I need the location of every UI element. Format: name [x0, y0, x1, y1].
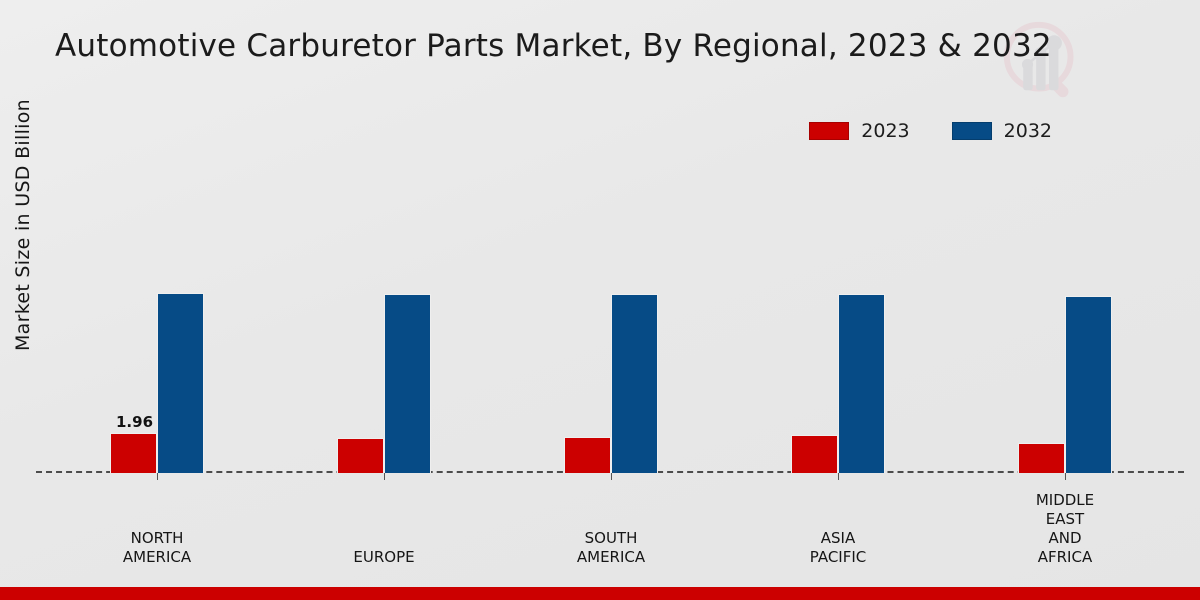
plot-area: 1.96 NORTH AMERICA EUROPE	[36, 160, 1184, 473]
bar-2032-middle-east-and-africa[interactable]	[1065, 296, 1112, 473]
bar-group-south-america: SOUTH AMERICA	[564, 160, 658, 473]
x-tick-asia-pacific	[838, 473, 839, 480]
bar-group-asia-pacific: ASIA PACIFIC	[791, 160, 885, 473]
x-label-north-america: NORTH AMERICA	[57, 529, 257, 567]
legend-item-2023[interactable]: 2023	[809, 120, 909, 142]
bar-value-label-north-america: 1.96	[116, 413, 153, 431]
legend-item-2032[interactable]: 2032	[952, 120, 1052, 142]
x-label-line: NORTH	[57, 529, 257, 548]
chart-legend: 2023 2032	[809, 120, 1052, 142]
x-label-line: AMERICA	[511, 548, 711, 567]
bar-2023-north-america[interactable]	[110, 433, 157, 473]
y-axis-label: Market Size in USD Billion	[12, 60, 34, 390]
bar-2023-south-america[interactable]	[564, 437, 611, 473]
bar-group-middle-east-and-africa: MIDDLE EAST AND AFRICA	[1018, 160, 1112, 473]
x-tick-middle-east-and-africa	[1065, 473, 1066, 480]
bar-2032-north-america[interactable]	[157, 293, 204, 473]
x-label-asia-pacific: ASIA PACIFIC	[738, 529, 938, 567]
bars-middle-east-and-africa	[1018, 160, 1112, 473]
x-label-line: AMERICA	[57, 548, 257, 567]
x-label-line: ASIA	[738, 529, 938, 548]
bar-group-europe: EUROPE	[337, 160, 431, 473]
x-tick-north-america	[157, 473, 158, 480]
footer-accent-bar	[0, 587, 1200, 600]
x-label-south-america: SOUTH AMERICA	[511, 529, 711, 567]
legend-swatch-2023	[809, 122, 849, 140]
x-label-line: EUROPE	[284, 548, 484, 567]
x-label-line: AND	[965, 529, 1165, 548]
bar-2023-europe[interactable]	[337, 438, 384, 473]
bars-europe	[337, 160, 431, 473]
x-label-line: SOUTH	[511, 529, 711, 548]
x-tick-south-america	[611, 473, 612, 480]
legend-label-2023: 2023	[861, 120, 909, 142]
legend-label-2032: 2032	[1004, 120, 1052, 142]
bar-2032-south-america[interactable]	[611, 294, 658, 473]
x-tick-europe	[384, 473, 385, 480]
bar-2032-asia-pacific[interactable]	[838, 294, 885, 473]
bar-2023-asia-pacific[interactable]	[791, 435, 838, 473]
legend-swatch-2032	[952, 122, 992, 140]
x-label-line: PACIFIC	[738, 548, 938, 567]
x-label-europe: EUROPE	[284, 548, 484, 567]
bars-south-america	[564, 160, 658, 473]
bars-asia-pacific	[791, 160, 885, 473]
x-label-line: AFRICA	[965, 548, 1165, 567]
bar-2032-europe[interactable]	[384, 294, 431, 473]
chart-page: Automotive Carburetor Parts Market, By R…	[0, 0, 1200, 600]
x-label-middle-east-and-africa: MIDDLE EAST AND AFRICA	[965, 491, 1165, 567]
x-label-line: EAST	[965, 510, 1165, 529]
x-label-line: MIDDLE	[965, 491, 1165, 510]
chart-title: Automotive Carburetor Parts Market, By R…	[55, 28, 1052, 64]
bar-group-north-america: 1.96 NORTH AMERICA	[110, 160, 204, 473]
bar-2023-middle-east-and-africa[interactable]	[1018, 443, 1065, 473]
